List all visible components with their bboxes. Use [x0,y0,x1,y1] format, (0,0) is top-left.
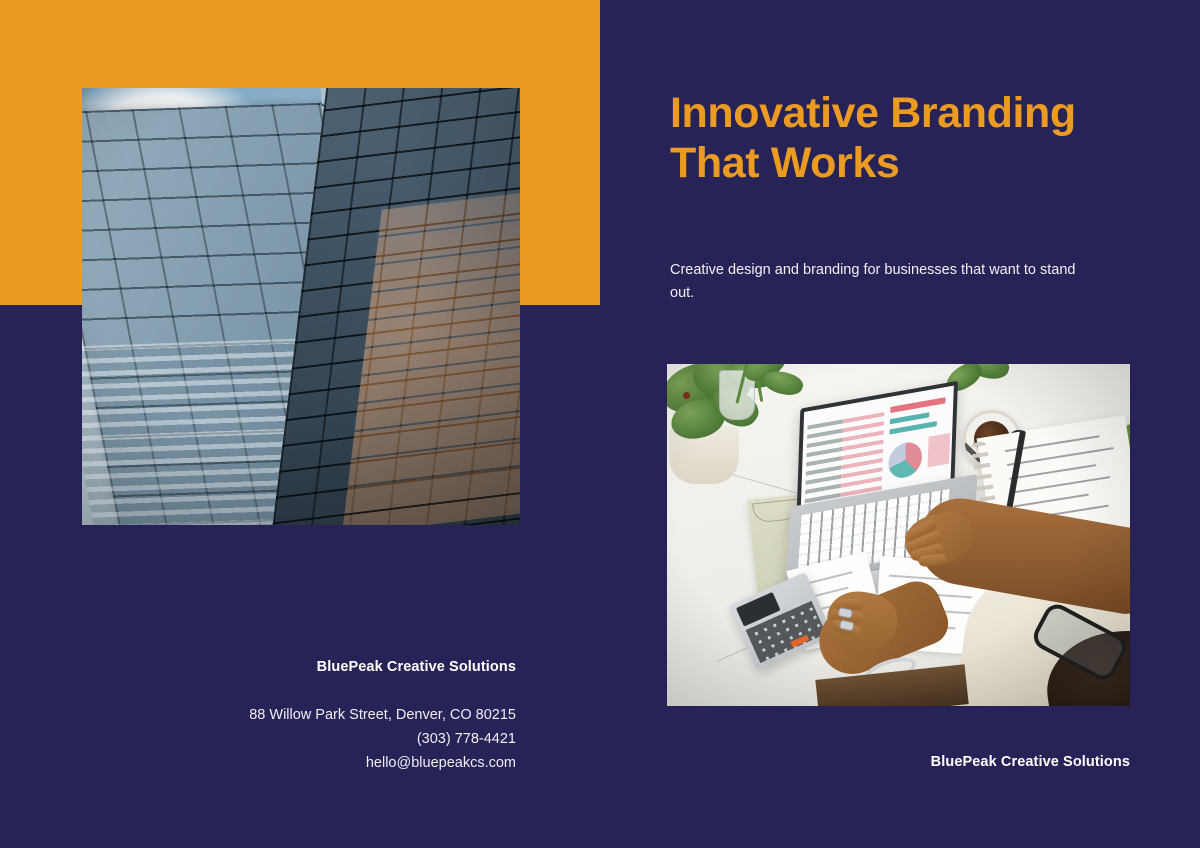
contact-phone[interactable]: (303) 778-4421 [160,727,516,751]
page-title: Innovative Branding That Works [670,88,1140,189]
contact-block: BluePeak Creative Solutions 88 Willow Pa… [160,659,516,776]
headline-line-1: Innovative Branding [670,88,1140,138]
contact-email[interactable]: hello@bluepeakcs.com [160,751,516,775]
photo-vignette [82,88,520,525]
contact-address: 88 Willow Park Street, Denver, CO 80215 [160,703,516,727]
headline-line-2: That Works [670,138,1140,188]
subheadline: Creative design and branding for busines… [670,259,1100,306]
skyscraper-photo [82,88,520,525]
contact-company-name: BluePeak Creative Solutions [160,659,516,675]
footer-company-name: BluePeak Creative Solutions [830,754,1130,770]
photo-vignette [667,364,1130,706]
desk-workspace-photo [667,364,1130,706]
brochure-page: Innovative Branding That Works Creative … [0,0,1200,848]
